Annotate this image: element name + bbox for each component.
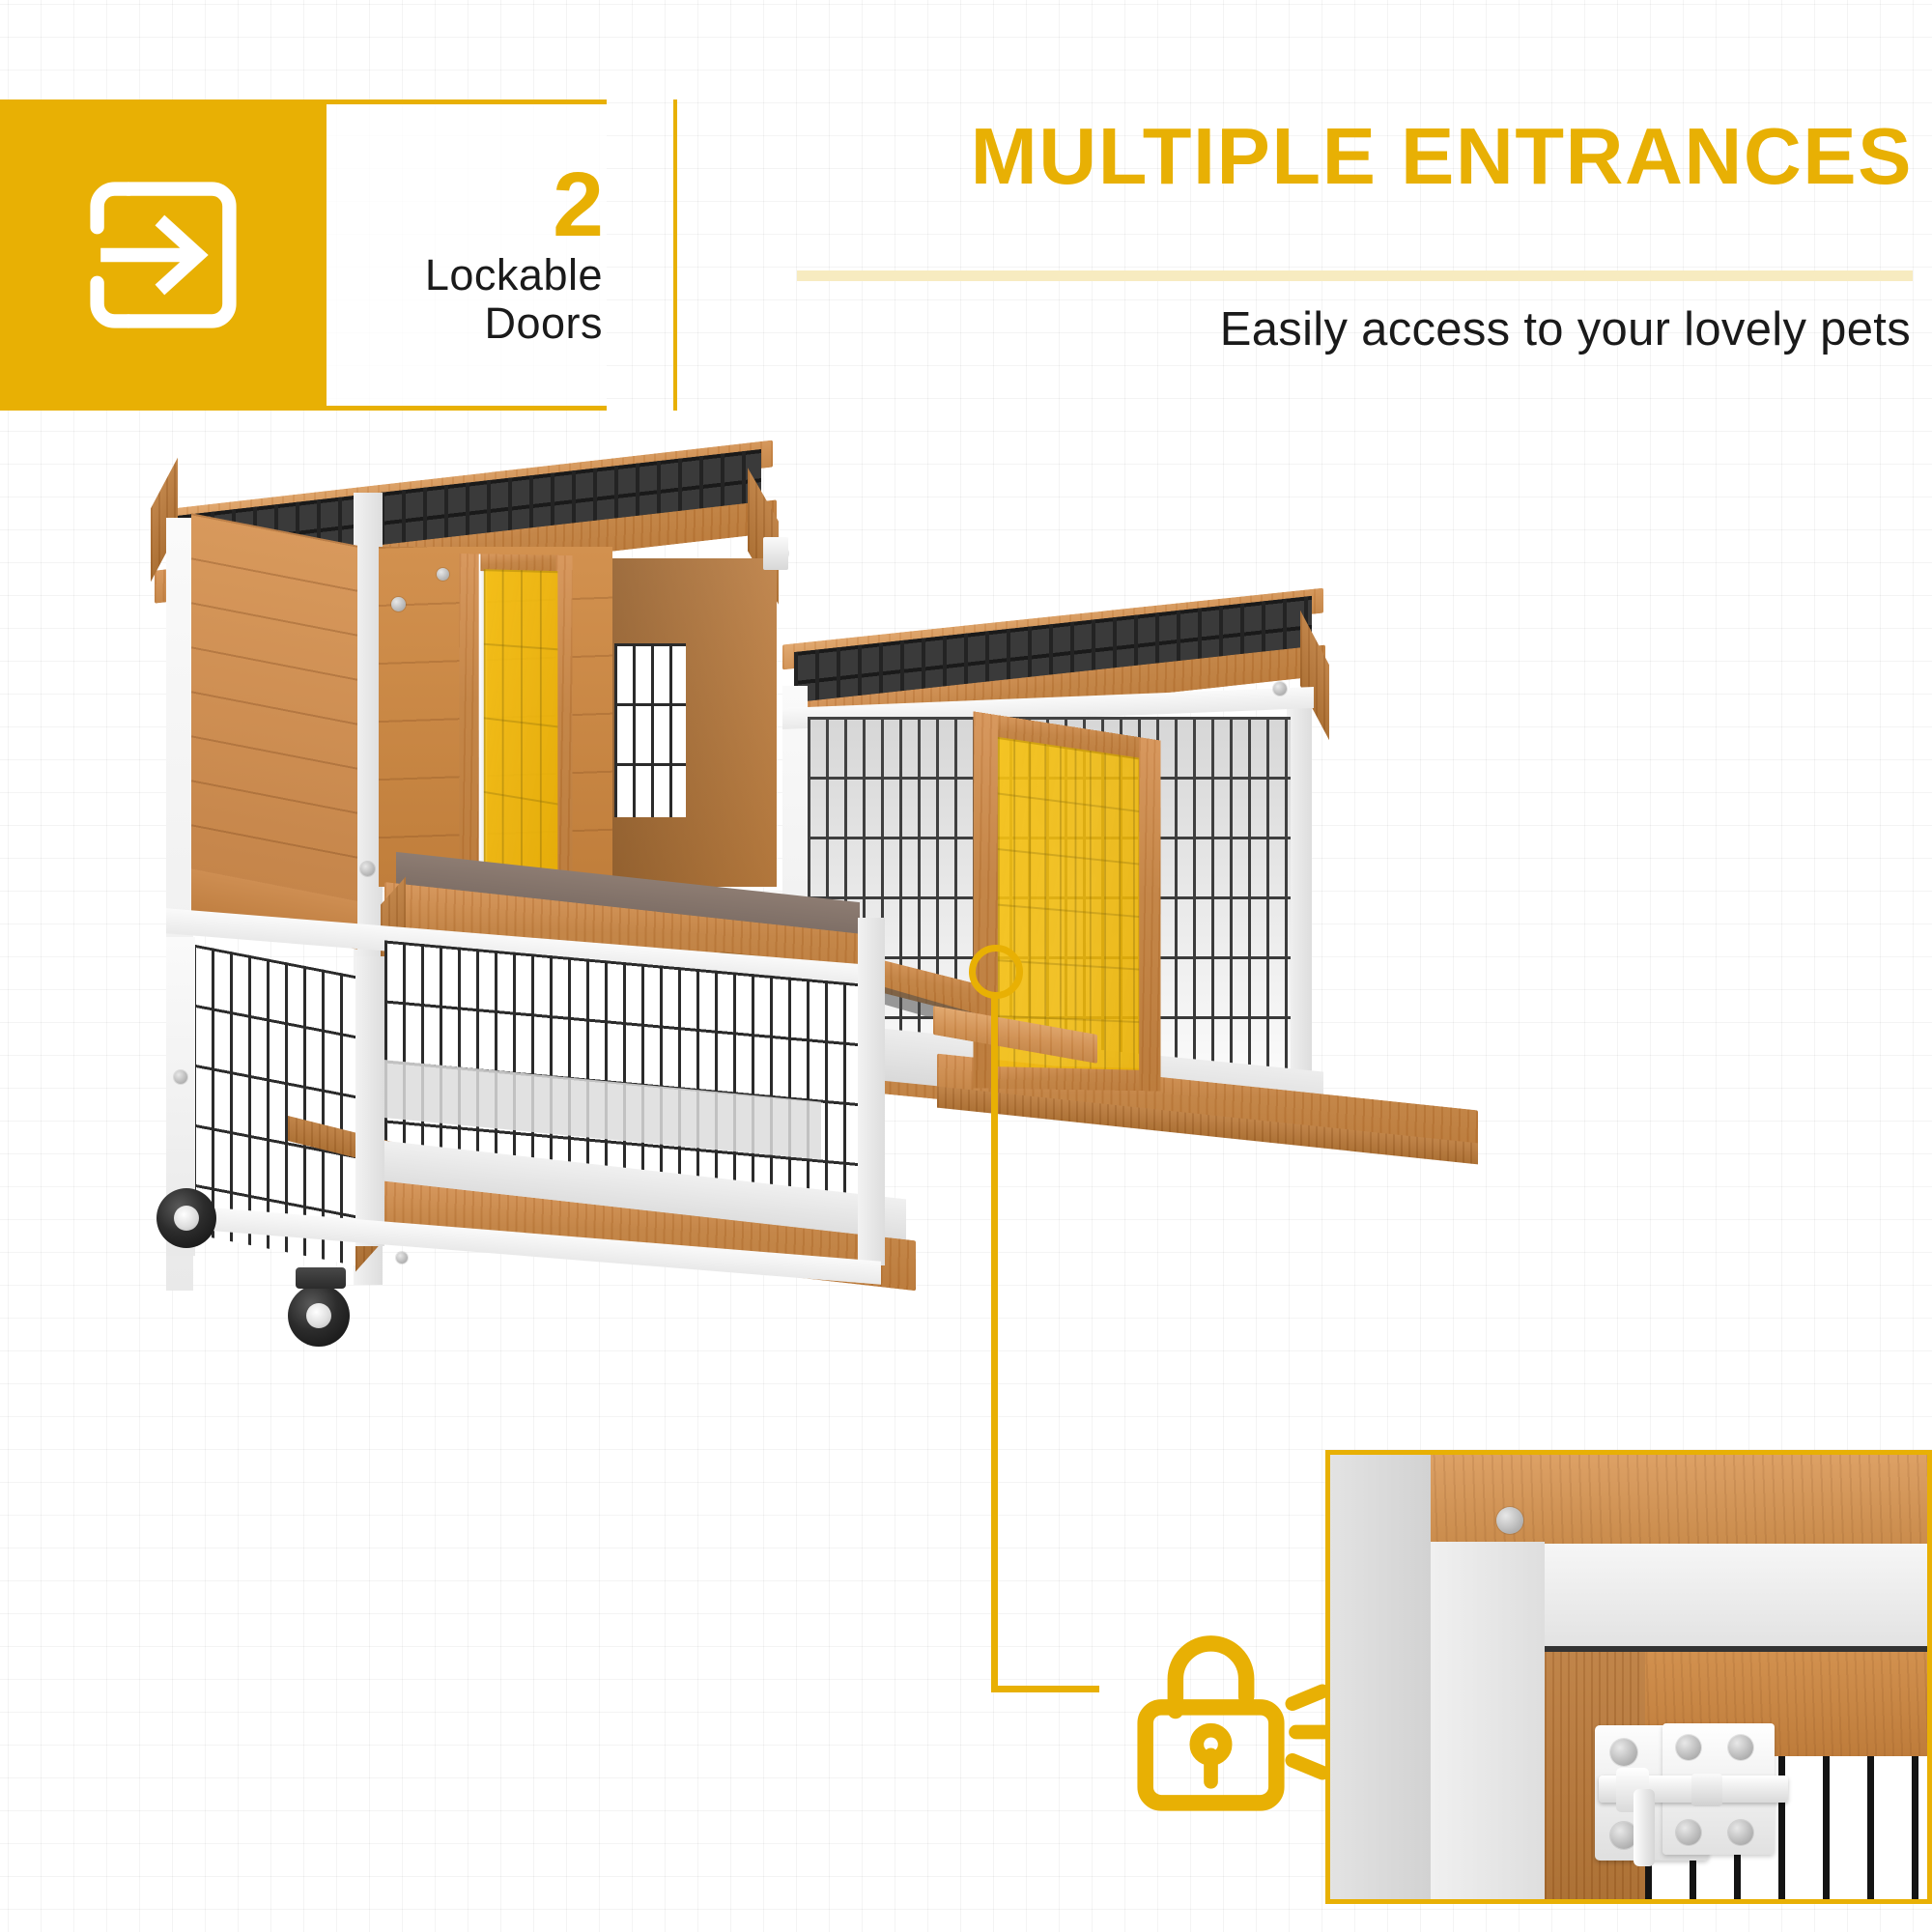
- latch-strike-screw-bl: [1676, 1820, 1701, 1845]
- hutch-post-mid-lower: [355, 956, 384, 1246]
- inset-white-post: [1330, 1455, 1431, 1904]
- inset-white-post-2: [1431, 1542, 1545, 1904]
- page-title: MULTIPLE ENTRANCES: [971, 116, 1913, 196]
- product-image: [106, 454, 1391, 1362]
- callout-ring: [969, 945, 1023, 999]
- latch-closeup-panel: [1325, 1450, 1932, 1904]
- caster-wheel-left-hub: [174, 1206, 199, 1231]
- run-screw-roof: [1273, 682, 1287, 696]
- badge-number: 2: [553, 161, 603, 248]
- page-subtitle: Easily access to your lovely pets: [1220, 304, 1911, 356]
- inset-top-screw: [1496, 1507, 1523, 1534]
- base-tray-screw: [396, 1252, 408, 1264]
- door-arrow-icon: [76, 168, 250, 342]
- inset-top-wood-rail: [1427, 1455, 1932, 1548]
- badge-text-block: 2 Lockable Doors: [327, 99, 607, 411]
- hutch-side-slats: [191, 513, 357, 902]
- inset-white-rail: [1545, 1544, 1932, 1650]
- door-mesh-overlay: [484, 569, 558, 884]
- unlocked-padlock-icon: [1121, 1615, 1333, 1828]
- door-hinge-screw-top: [437, 568, 449, 581]
- latch-bolt-tip: [1691, 1774, 1722, 1806]
- badge-line-1: Lockable: [425, 251, 603, 299]
- hutch-post-right-lower: [858, 918, 885, 1265]
- header-right: MULTIPLE ENTRANCES Easily access to your…: [696, 106, 1920, 406]
- hutch-screw-roof: [391, 597, 406, 611]
- run-hinge-plate: [763, 537, 788, 570]
- latch-strike-screw-br: [1728, 1820, 1753, 1845]
- callout-leader-vertical: [991, 997, 998, 1692]
- hutch-screw-mid-post: [360, 862, 375, 876]
- title-rule: [797, 270, 1913, 281]
- caster-bracket-front: [296, 1267, 346, 1289]
- latch-strike-screw-tl: [1676, 1735, 1701, 1760]
- upper-hutch-door[interactable]: [460, 554, 573, 903]
- door-frame-right-stile: [555, 555, 572, 904]
- caster-wheel-front-hub: [306, 1303, 331, 1328]
- callout-leader-horizontal: [991, 1686, 1099, 1692]
- badge-line-2: Doors: [484, 299, 603, 348]
- latch-bolt-handle[interactable]: [1634, 1789, 1655, 1866]
- header-vertical-divider: [673, 99, 677, 411]
- badge-icon-block: [0, 99, 327, 411]
- hutch-doorway-mesh: [614, 643, 686, 817]
- infographic-page: 2 Lockable Doors MULTIPLE ENTRANCES Easi…: [0, 0, 1932, 1932]
- latch-strike-screw-tr: [1728, 1735, 1753, 1760]
- run-door-right-stile: [1139, 737, 1160, 1091]
- latch-backplate-screw-top: [1610, 1739, 1637, 1766]
- door-frame-left-stile: [460, 554, 481, 883]
- hutch-screw-left-post: [174, 1070, 187, 1084]
